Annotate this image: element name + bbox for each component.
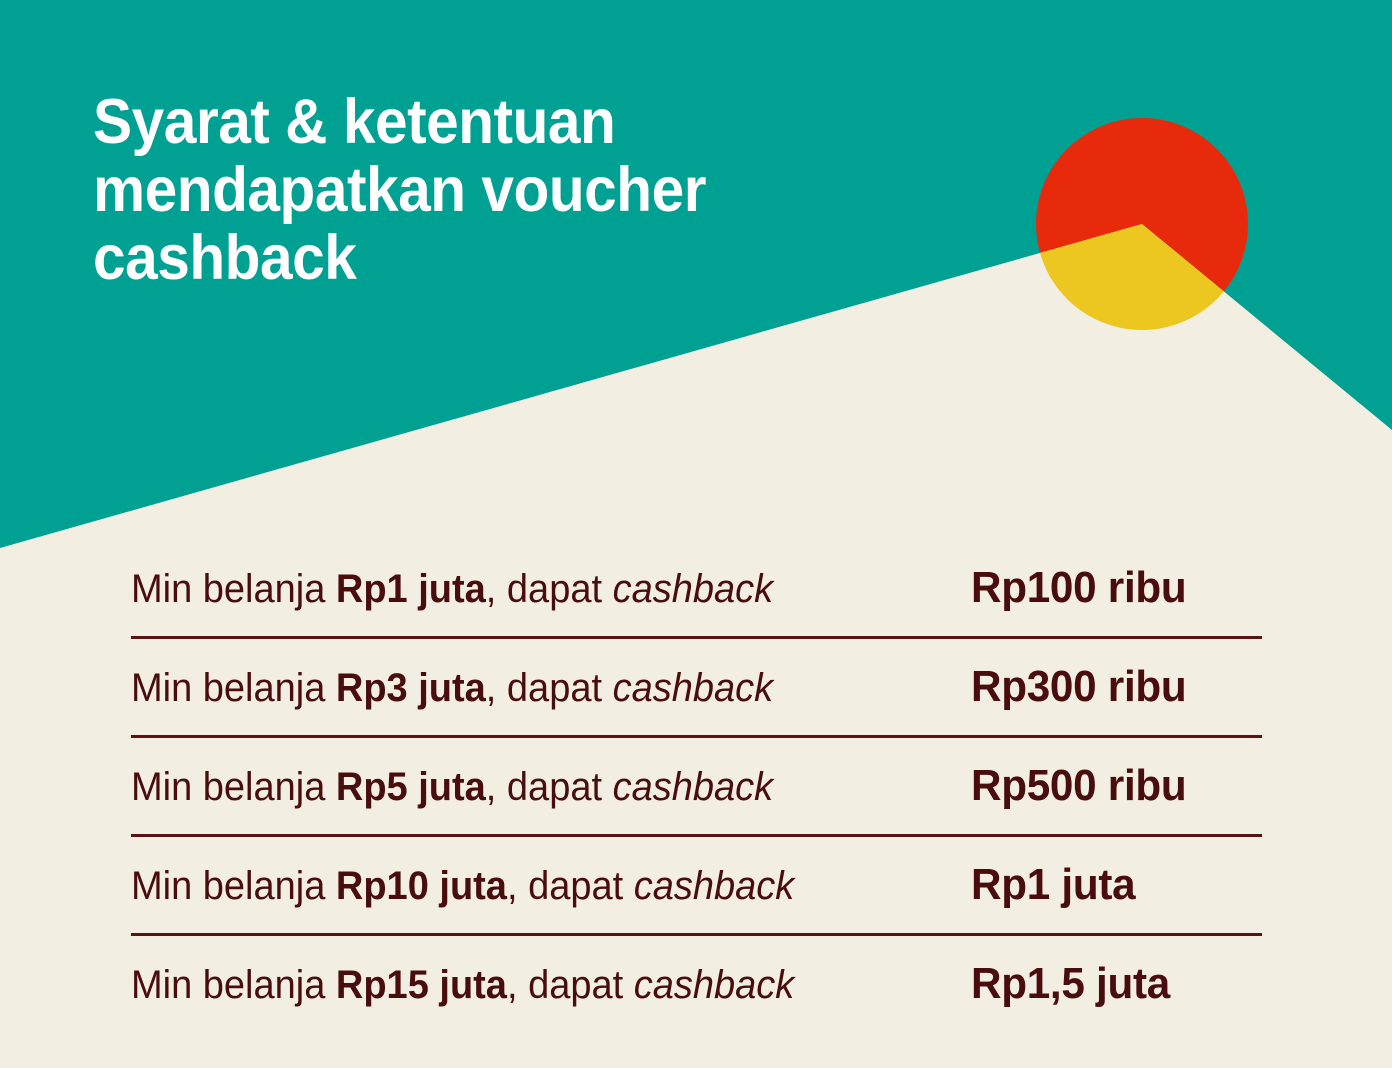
- row-cashback-value: Rp1 juta: [971, 837, 1250, 933]
- table-row: Min belanja Rp3 juta, dapat cashback Rp3…: [131, 639, 1262, 738]
- desc-middle: , dapat: [486, 666, 613, 710]
- desc-min-amount: Rp1 juta: [336, 567, 486, 611]
- desc-keyword: cashback: [613, 666, 774, 710]
- desc-keyword: cashback: [634, 963, 795, 1007]
- row-cashback-value: Rp1,5 juta: [971, 936, 1250, 1032]
- desc-middle: , dapat: [507, 963, 634, 1007]
- desc-prefix: Min belanja: [131, 567, 336, 611]
- title-line-3: cashback: [93, 224, 856, 292]
- terms-table: Min belanja Rp1 juta, dapat cashback Rp1…: [131, 540, 1262, 1032]
- row-cashback-value: Rp300 ribu: [971, 639, 1250, 735]
- table-row: Min belanja Rp15 juta, dapat cashback Rp…: [131, 936, 1262, 1032]
- desc-middle: , dapat: [486, 567, 613, 611]
- page-title: Syarat & ketentuan mendapatkan voucher c…: [93, 88, 913, 292]
- desc-keyword: cashback: [613, 567, 774, 611]
- desc-min-amount: Rp5 juta: [336, 765, 486, 809]
- table-row: Min belanja Rp5 juta, dapat cashback Rp5…: [131, 738, 1262, 837]
- desc-keyword: cashback: [634, 864, 795, 908]
- title-line-1: Syarat & ketentuan: [93, 88, 856, 156]
- row-description: Min belanja Rp10 juta, dapat cashback: [131, 838, 929, 934]
- desc-middle: , dapat: [507, 864, 634, 908]
- table-row: Min belanja Rp1 juta, dapat cashback Rp1…: [131, 540, 1262, 639]
- desc-prefix: Min belanja: [131, 765, 336, 809]
- desc-min-amount: Rp10 juta: [336, 864, 507, 908]
- row-cashback-value: Rp100 ribu: [971, 540, 1250, 636]
- row-description: Min belanja Rp1 juta, dapat cashback: [131, 541, 929, 637]
- row-cashback-value: Rp500 ribu: [971, 738, 1250, 834]
- row-description: Min belanja Rp5 juta, dapat cashback: [131, 739, 929, 835]
- title-line-2: mendapatkan voucher: [93, 156, 856, 224]
- row-description: Min belanja Rp15 juta, dapat cashback: [131, 937, 929, 1033]
- table-row: Min belanja Rp10 juta, dapat cashback Rp…: [131, 837, 1262, 936]
- desc-min-amount: Rp15 juta: [336, 963, 507, 1007]
- desc-min-amount: Rp3 juta: [336, 666, 486, 710]
- desc-prefix: Min belanja: [131, 864, 336, 908]
- row-description: Min belanja Rp3 juta, dapat cashback: [131, 640, 929, 736]
- desc-keyword: cashback: [613, 765, 774, 809]
- desc-prefix: Min belanja: [131, 666, 336, 710]
- desc-middle: , dapat: [486, 765, 613, 809]
- desc-prefix: Min belanja: [131, 963, 336, 1007]
- infographic-canvas: Syarat & ketentuan mendapatkan voucher c…: [0, 0, 1392, 1068]
